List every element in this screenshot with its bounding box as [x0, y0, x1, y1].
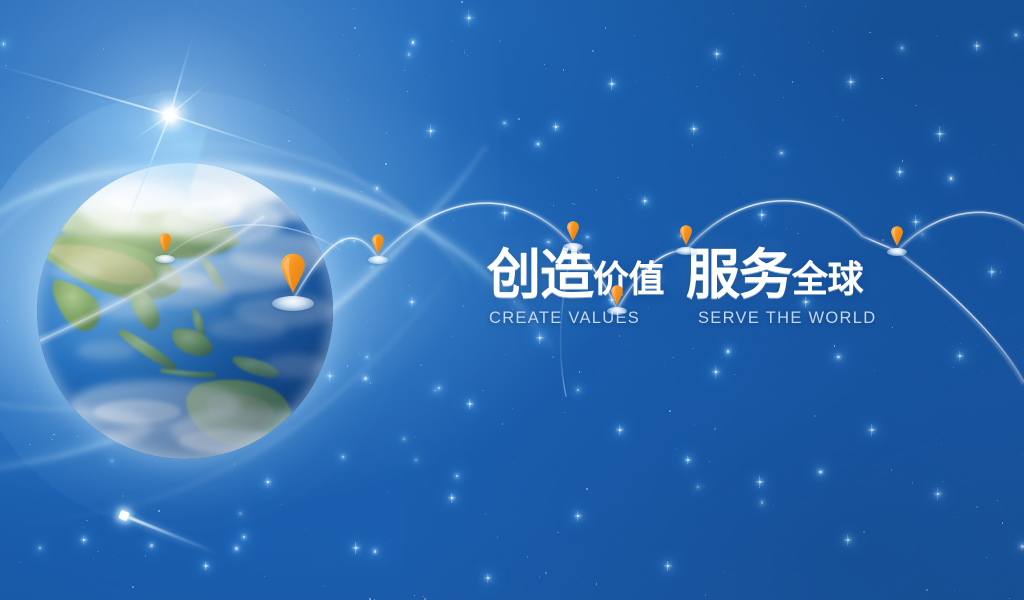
headline-subtitle-row: CREATE VALUES SERVE THE WORLD [487, 309, 907, 328]
pin-base-ellipse [272, 296, 314, 311]
headline-values: 价值 [593, 260, 664, 303]
pin-node-4[interactable] [676, 230, 696, 255]
pin-base-ellipse [368, 256, 388, 264]
pin-oceania[interactable] [272, 262, 314, 311]
map-pin-icon [280, 253, 306, 293]
headline-world: 全球 [792, 260, 863, 303]
map-pin-icon [680, 225, 693, 245]
subtitle-create-values: CREATE VALUES [487, 309, 697, 328]
headline-create: 创造 [487, 247, 593, 303]
subtitle-serve-the-world: SERVE THE WORLD [697, 309, 876, 328]
pin-base-ellipse [155, 255, 175, 263]
pin-node-1[interactable] [368, 239, 388, 264]
map-pin-icon [372, 234, 385, 254]
pin-node-2[interactable] [563, 226, 583, 251]
map-pin-icon [567, 221, 580, 241]
hero-banner: 创造 价值 服务 全球 CREATE VALUES SERVE THE WORL… [0, 0, 1024, 600]
pin-node-5[interactable] [887, 231, 907, 256]
pin-node-3[interactable] [607, 290, 627, 315]
pin-base-ellipse [887, 248, 907, 256]
map-pin-icon [159, 233, 172, 253]
pin-base-ellipse [563, 243, 583, 251]
map-pin-icon [611, 285, 624, 305]
pin-base-ellipse [676, 247, 696, 255]
headline-serve: 服务 [686, 247, 792, 303]
headline-block: 创造 价值 服务 全球 CREATE VALUES SERVE THE WORL… [487, 247, 907, 328]
headline-title-row: 创造 价值 服务 全球 [487, 247, 907, 303]
pin-east-asia[interactable] [155, 238, 175, 263]
map-pin-icon [891, 226, 904, 246]
pin-base-ellipse [607, 307, 627, 315]
